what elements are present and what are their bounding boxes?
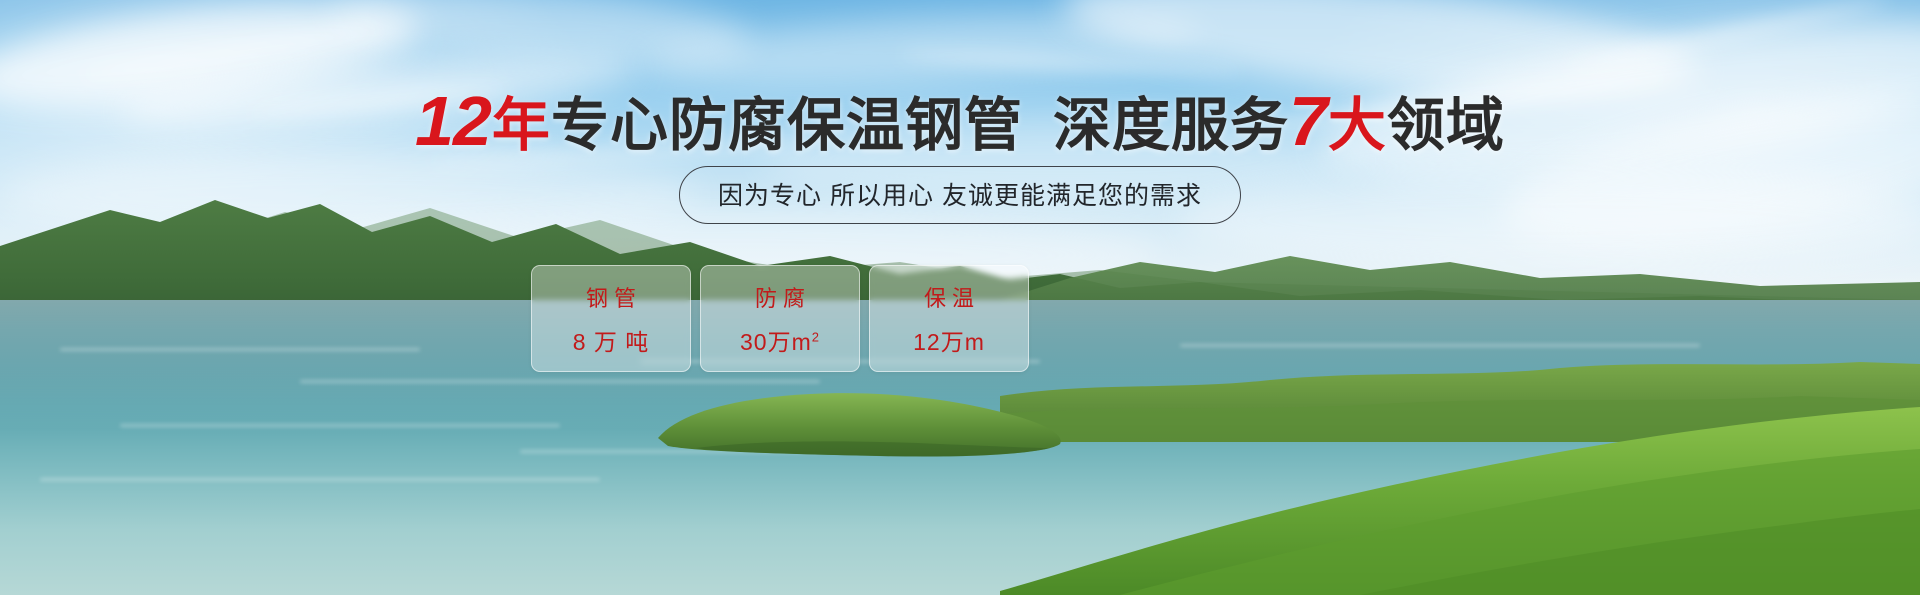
stat-card-label: 保温 bbox=[918, 281, 980, 313]
stat-card-value: 8 万 吨 bbox=[573, 323, 650, 357]
water-ripple bbox=[60, 348, 420, 351]
stat-card-value-main: 30万m bbox=[740, 329, 812, 355]
headline-main-text: 专心防腐保温钢管 bbox=[551, 93, 1023, 158]
headline-years-number: 12 bbox=[415, 82, 491, 160]
headline-fields-unit: 大 bbox=[1328, 93, 1387, 158]
hero-banner: 12年专心防腐保温钢管深度服务7大领域 因为专心 所以用心 友诚更能满足您的需求… bbox=[0, 0, 1920, 595]
water-ripple bbox=[40, 478, 600, 481]
stat-cards: 钢管 8 万 吨 防腐 30万m2 保温 12万m bbox=[531, 265, 1029, 372]
foreground-grass bbox=[1000, 385, 1920, 595]
headline-fields-text: 领域 bbox=[1387, 93, 1505, 158]
water-ripple bbox=[1180, 344, 1700, 347]
headline-service-text: 深度服务 bbox=[1053, 93, 1289, 158]
stat-card-anticorrosion[interactable]: 防腐 30万m2 bbox=[700, 265, 860, 372]
stat-card-value: 30万m2 bbox=[740, 323, 820, 357]
water-ripple bbox=[120, 424, 560, 427]
stat-card-label: 钢管 bbox=[580, 281, 642, 313]
stat-card-steel-pipe[interactable]: 钢管 8 万 吨 bbox=[531, 265, 691, 372]
stat-card-value-superscript: 2 bbox=[812, 329, 820, 344]
headline-years-unit: 年 bbox=[492, 93, 551, 158]
subtitle-pill: 因为专心 所以用心 友诚更能满足您的需求 bbox=[679, 166, 1241, 224]
headline-fields-number: 7 bbox=[1289, 82, 1327, 160]
stat-card-label: 防腐 bbox=[749, 281, 811, 313]
subtitle-container: 因为专心 所以用心 友诚更能满足您的需求 bbox=[0, 166, 1920, 224]
stat-card-insulation[interactable]: 保温 12万m bbox=[869, 265, 1029, 372]
stat-card-value: 12万m bbox=[913, 323, 985, 357]
headline: 12年专心防腐保温钢管深度服务7大领域 bbox=[0, 78, 1920, 162]
